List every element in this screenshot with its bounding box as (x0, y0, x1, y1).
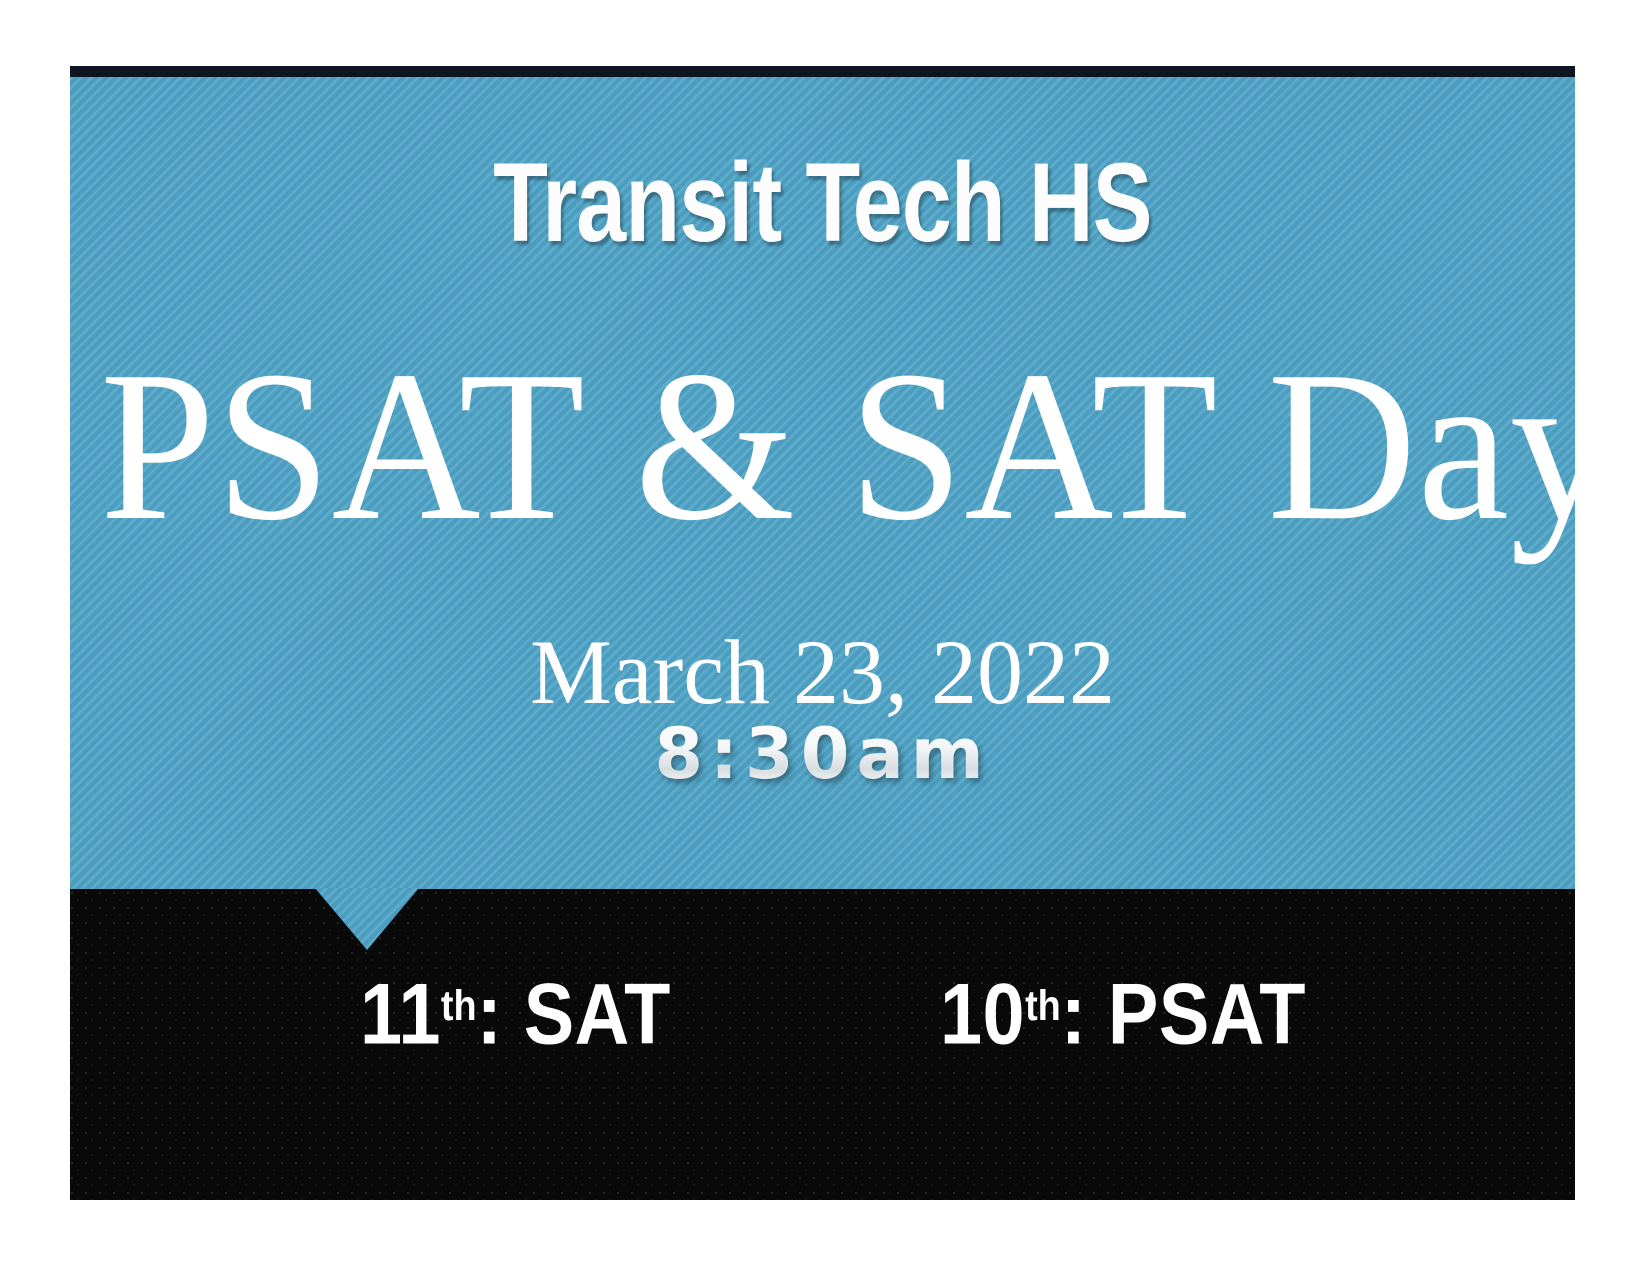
event-time: 8:30am (70, 719, 1575, 789)
page-title: PSAT & SAT Day (100, 338, 1545, 553)
grade-10-number: 10 (940, 967, 1025, 1063)
grade-assignment-row: 11th: SAT 10th: PSAT (70, 941, 1575, 1071)
school-name: Transit Tech HS (221, 144, 1425, 262)
grade-assignment-10th: 10th: PSAT (940, 941, 1306, 1080)
flyer-canvas: Transit Tech HS PSAT & SAT Day March 23,… (0, 0, 1650, 1275)
grade-10-separator: : (1061, 967, 1087, 1063)
grade-10-exam: PSAT (1108, 967, 1306, 1063)
grade-11-ordinal-suffix: th (441, 982, 477, 1030)
top-rule-divider (70, 66, 1575, 77)
event-date: March 23, 2022 (70, 626, 1575, 718)
grade-assignment-11th: 11th: SAT (360, 941, 671, 1080)
poster-content: Transit Tech HS PSAT & SAT Day March 23,… (70, 66, 1575, 1200)
grade-10-ordinal-suffix: th (1025, 982, 1061, 1030)
grade-11-exam: SAT (524, 967, 671, 1063)
grade-11-separator: : (477, 967, 503, 1063)
poster: Transit Tech HS PSAT & SAT Day March 23,… (70, 66, 1575, 1200)
grade-11-number: 11 (360, 967, 441, 1063)
